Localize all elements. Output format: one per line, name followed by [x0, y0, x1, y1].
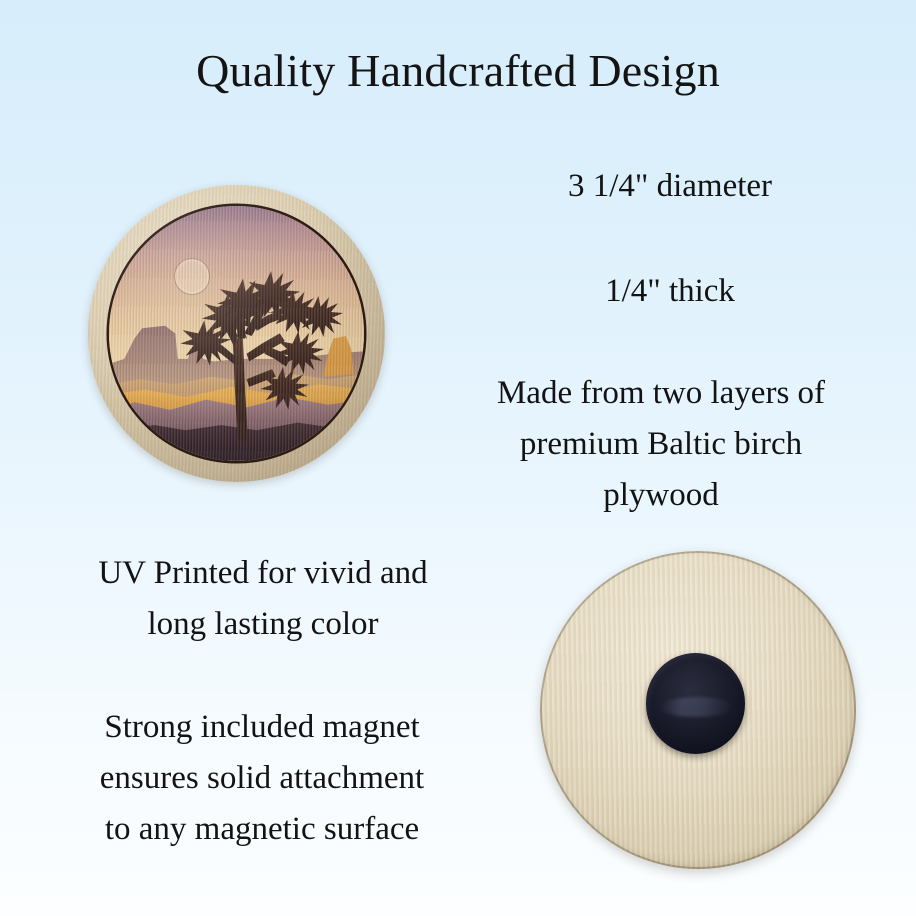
desert-landscape-artwork: [109, 206, 364, 461]
feature-magnet-text: Strong included magnet ensures solid att…: [6, 702, 518, 855]
embedded-magnet: [646, 653, 746, 753]
right-rock-spire: [323, 336, 354, 377]
printed-artwork-disc: [109, 206, 364, 461]
page-title: Quality Handcrafted Design: [0, 42, 916, 100]
product-image-front: [88, 185, 385, 482]
infographic-canvas: Quality Handcrafted Design: [0, 0, 916, 916]
magnet-sheen: [660, 697, 734, 717]
spec-material-text: Made from two layers of premium Baltic b…: [412, 368, 910, 521]
spec-diameter-text: 3 1/4" diameter: [430, 163, 910, 209]
spec-thickness-text: 1/4" thick: [430, 268, 910, 314]
feature-uv-print-text: UV Printed for vivid and long lasting co…: [8, 548, 518, 650]
product-image-back: [540, 551, 856, 869]
foreground-silhouette: [109, 423, 364, 461]
